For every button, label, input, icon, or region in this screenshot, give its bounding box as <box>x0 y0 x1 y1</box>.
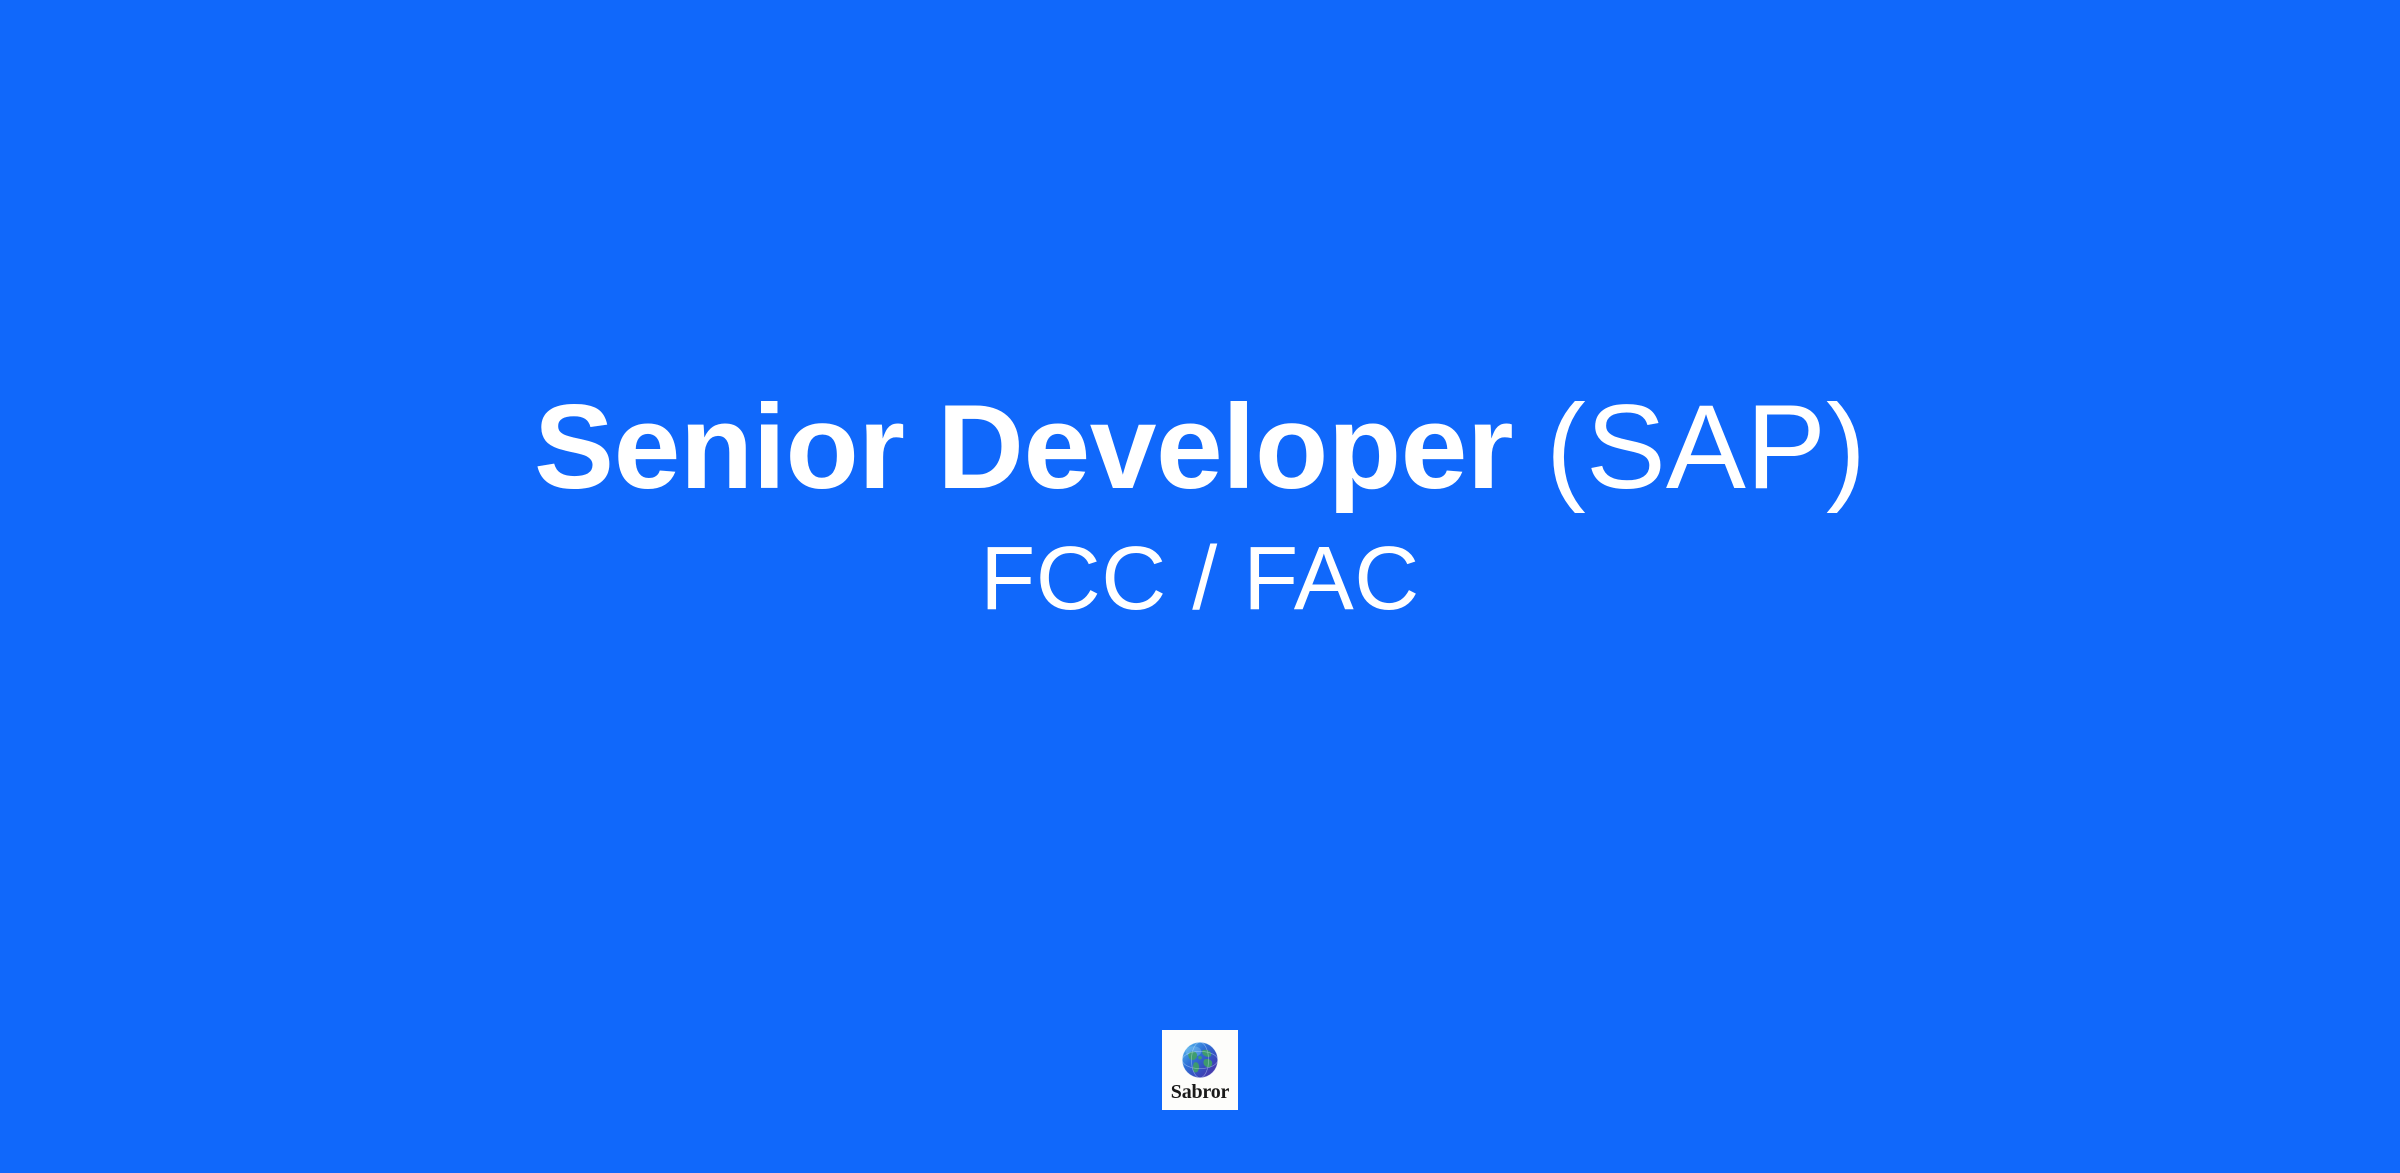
company-logo: Sabror <box>1162 1030 1238 1110</box>
headline-block: Senior Developer (SAP) FCC / FAC <box>0 383 2400 629</box>
page-subtitle: FCC / FAC <box>80 529 2320 630</box>
globe-icon <box>1179 1039 1221 1081</box>
page-title-main: Senior Developer <box>534 380 1546 514</box>
page-title: Senior Developer (SAP) <box>80 383 2320 513</box>
page-title-suffix: (SAP) <box>1546 380 1866 514</box>
company-name: Sabror <box>1171 1082 1229 1102</box>
job-posting-hero: Senior Developer (SAP) FCC / FAC <box>0 0 2400 1173</box>
